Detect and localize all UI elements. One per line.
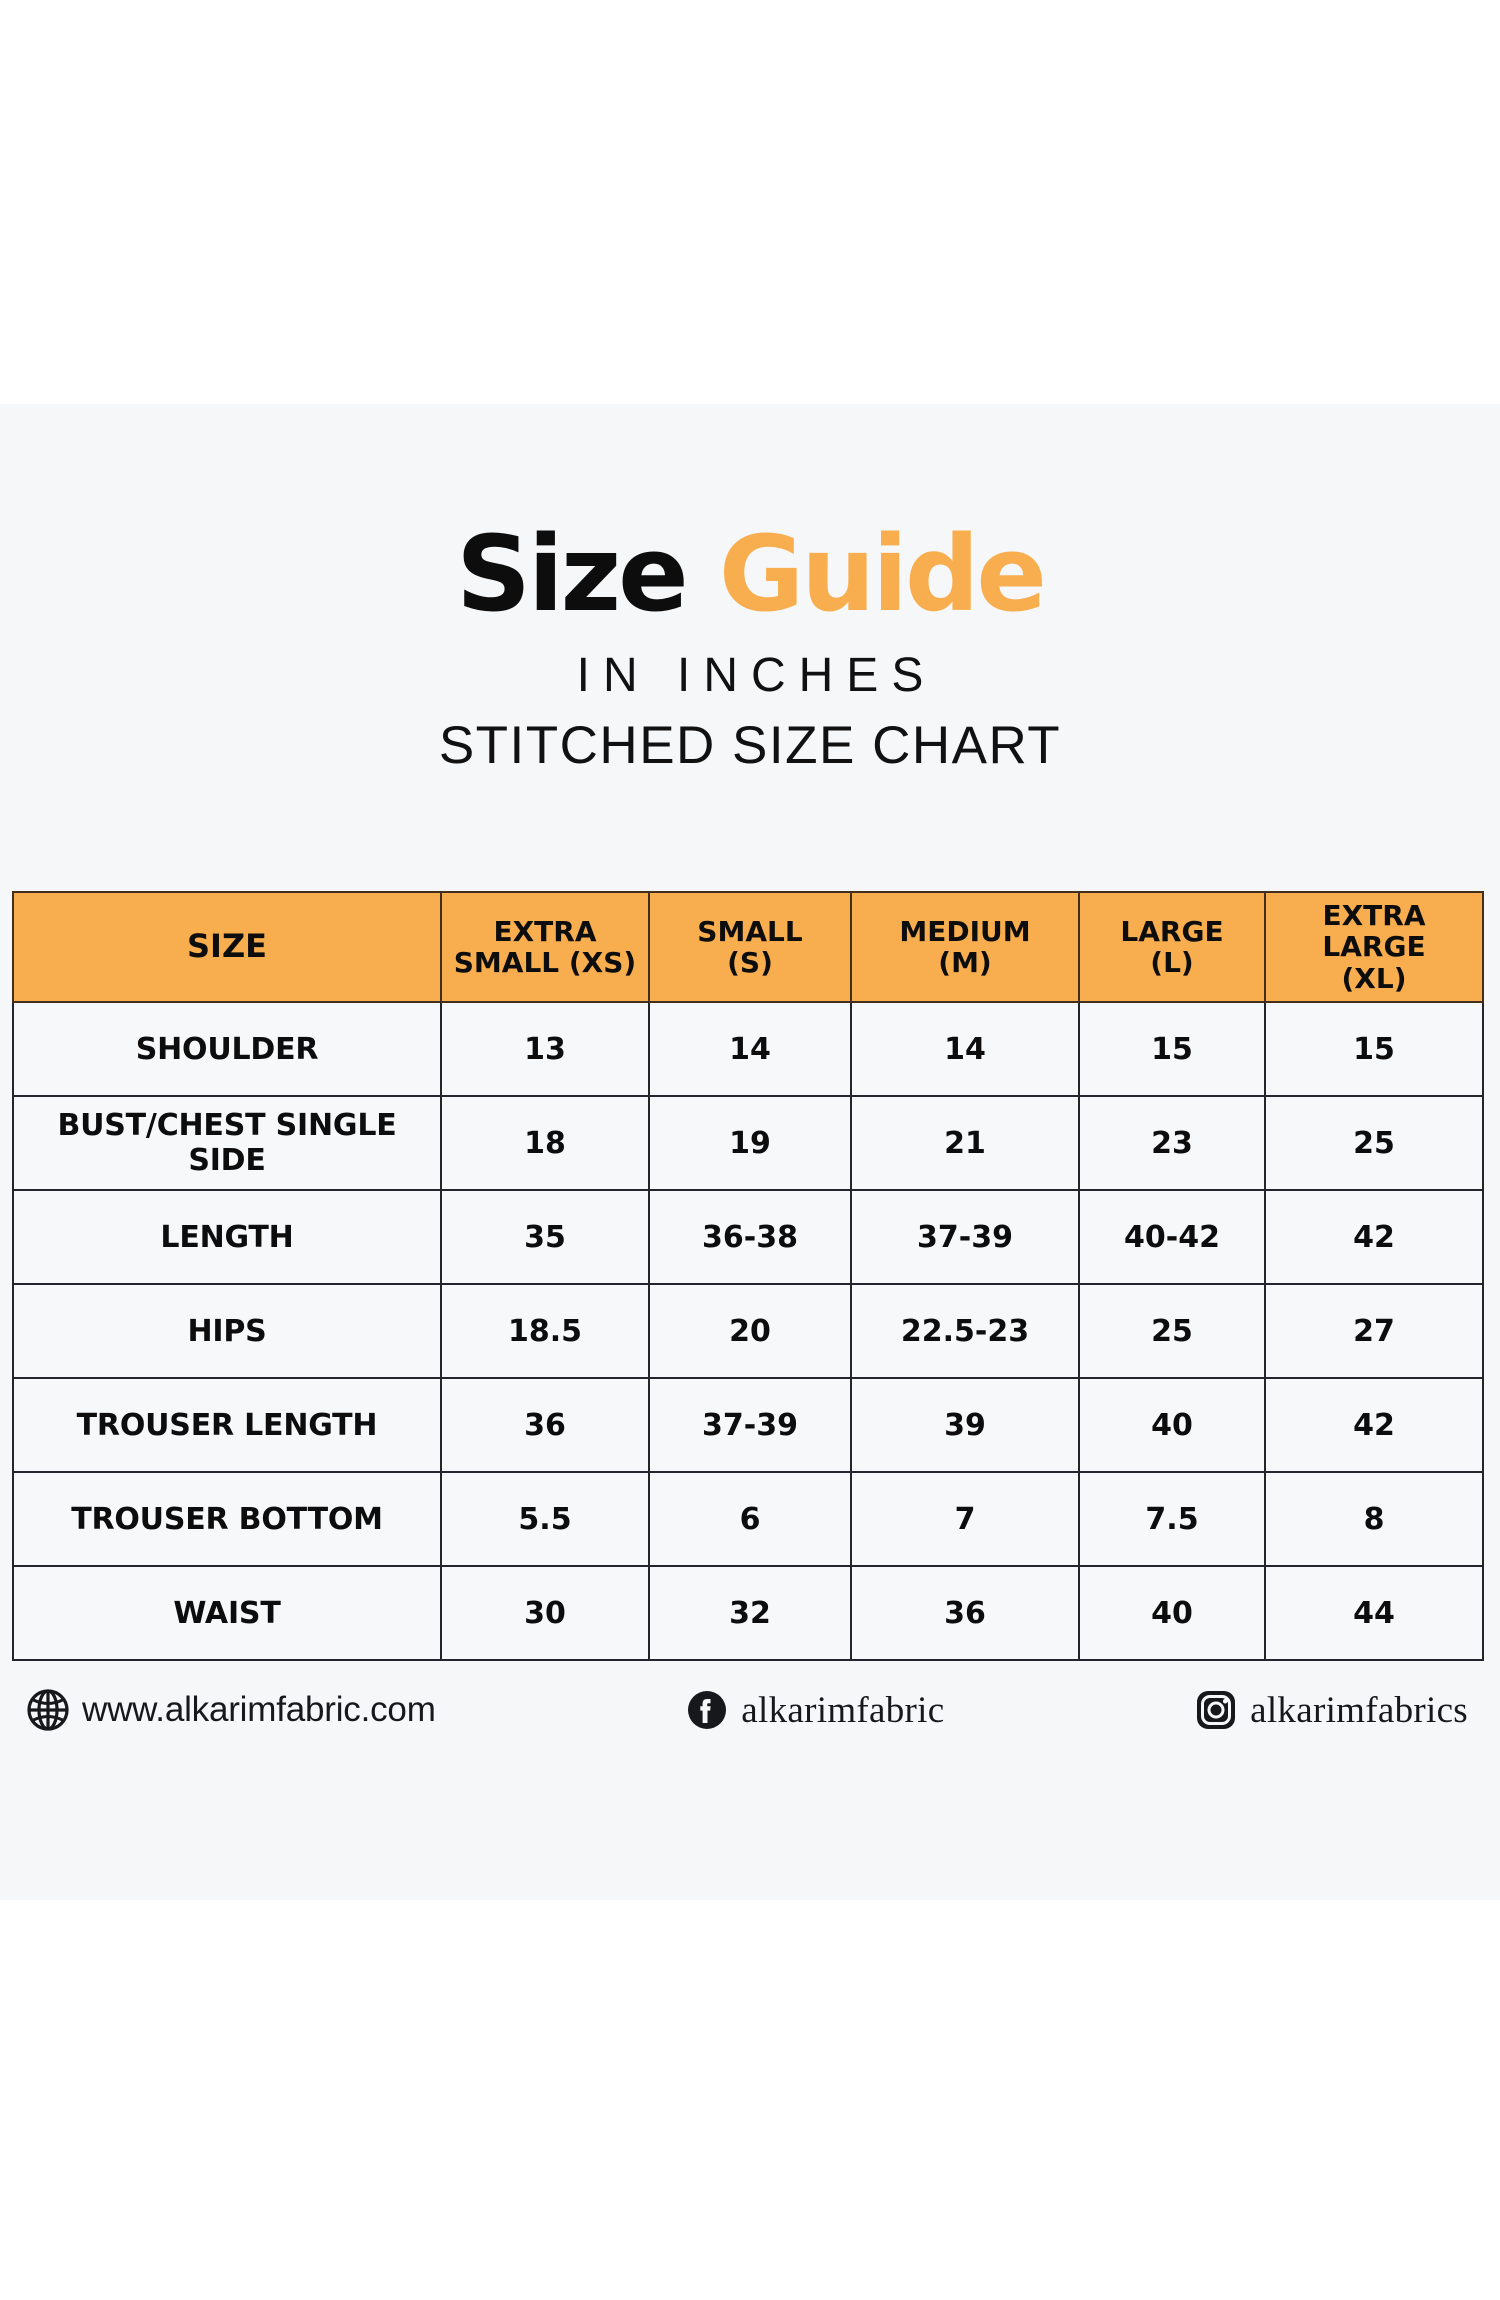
- column-header-size-line1: SIZE: [187, 927, 267, 965]
- subtitle-units: IN INCHES: [0, 648, 1500, 703]
- cell-shoulder-m: 14: [851, 1002, 1079, 1096]
- cell-shoulder-xl: 15: [1265, 1002, 1483, 1096]
- column-header-l: LARGE (L): [1079, 892, 1265, 1002]
- cell-trouser-bottom-l: 7.5: [1079, 1472, 1265, 1566]
- page-title-accent: Guide: [719, 513, 1044, 635]
- subtitle-chart-type: STITCHED SIZE CHART: [0, 715, 1500, 776]
- cell-waist-m: 36: [851, 1566, 1079, 1660]
- cell-hips-xl: 27: [1265, 1284, 1483, 1378]
- column-header-l-line2: (L): [1150, 946, 1193, 979]
- cell-length-m: 37-39: [851, 1190, 1079, 1284]
- facebook-icon: [685, 1688, 729, 1732]
- table-row: BUST/CHEST SINGLE SIDE 18 19 21 23 25: [13, 1096, 1483, 1190]
- cell-length-xs: 35: [441, 1190, 649, 1284]
- cell-bust-l: 23: [1079, 1096, 1265, 1190]
- column-header-xs-line2: SMALL (XS): [454, 946, 636, 979]
- cell-bust-xl: 25: [1265, 1096, 1483, 1190]
- page-title-space: [686, 513, 719, 635]
- cell-trouser-length-m: 39: [851, 1378, 1079, 1472]
- column-header-size: SIZE: [13, 892, 441, 1002]
- table-row: LENGTH 35 36-38 37-39 40-42 42: [13, 1190, 1483, 1284]
- column-header-xs: EXTRA SMALL (XS): [441, 892, 649, 1002]
- cell-trouser-length-l: 40: [1079, 1378, 1265, 1472]
- table-row: SHOULDER 13 14 14 15 15: [13, 1002, 1483, 1096]
- footer-website[interactable]: www.alkarimfabric.com: [26, 1688, 436, 1732]
- table-row: WAIST 30 32 36 40 44: [13, 1566, 1483, 1660]
- cell-waist-xl: 44: [1265, 1566, 1483, 1660]
- cell-trouser-length-s: 37-39: [649, 1378, 851, 1472]
- column-header-xl-line2: (XL): [1341, 962, 1406, 995]
- cell-trouser-bottom-s: 6: [649, 1472, 851, 1566]
- size-guide-panel: Size Guide IN INCHES STITCHED SIZE CHART…: [0, 404, 1500, 1900]
- instagram-icon: [1194, 1688, 1238, 1732]
- table-row: TROUSER LENGTH 36 37-39 39 40 42: [13, 1378, 1483, 1472]
- cell-length-s: 36-38: [649, 1190, 851, 1284]
- cell-hips-s: 20: [649, 1284, 851, 1378]
- page-title: Size Guide: [0, 522, 1500, 626]
- table-row: TROUSER BOTTOM 5.5 6 7 7.5 8: [13, 1472, 1483, 1566]
- cell-trouser-bottom-xl: 8: [1265, 1472, 1483, 1566]
- cell-length-xl: 42: [1265, 1190, 1483, 1284]
- cell-bust-s: 19: [649, 1096, 851, 1190]
- table-body: SHOULDER 13 14 14 15 15 BUST/CHEST SINGL…: [13, 1002, 1483, 1660]
- column-header-s: SMALL (S): [649, 892, 851, 1002]
- footer-facebook[interactable]: alkarimfabric: [685, 1688, 944, 1732]
- column-header-m: MEDIUM (M): [851, 892, 1079, 1002]
- table-header-row: SIZE EXTRA SMALL (XS) SMALL (S) MEDIUM (…: [13, 892, 1483, 1002]
- cell-trouser-bottom-xs: 5.5: [441, 1472, 649, 1566]
- cell-shoulder-l: 15: [1079, 1002, 1265, 1096]
- globe-icon: [26, 1688, 70, 1732]
- cell-shoulder-xs: 13: [441, 1002, 649, 1096]
- footer-instagram-label: alkarimfabrics: [1250, 1689, 1468, 1732]
- cell-shoulder-s: 14: [649, 1002, 851, 1096]
- cell-hips-l: 25: [1079, 1284, 1265, 1378]
- row-label-bust-chest: BUST/CHEST SINGLE SIDE: [13, 1096, 441, 1190]
- cell-waist-s: 32: [649, 1566, 851, 1660]
- cell-hips-m: 22.5-23: [851, 1284, 1079, 1378]
- cell-hips-xs: 18.5: [441, 1284, 649, 1378]
- cell-bust-xs: 18: [441, 1096, 649, 1190]
- social-footer: www.alkarimfabric.com alkarimfabric alka…: [12, 1650, 1482, 1770]
- cell-trouser-length-xs: 36: [441, 1378, 649, 1472]
- column-header-l-line1: LARGE: [1120, 915, 1223, 948]
- title-block: Size Guide IN INCHES STITCHED SIZE CHART: [0, 404, 1500, 776]
- cell-trouser-length-xl: 42: [1265, 1378, 1483, 1472]
- cell-waist-xs: 30: [441, 1566, 649, 1660]
- row-label-trouser-bottom: TROUSER BOTTOM: [13, 1472, 441, 1566]
- column-header-s-line1: SMALL: [697, 915, 802, 948]
- column-header-m-line1: MEDIUM: [899, 915, 1030, 948]
- table-head: SIZE EXTRA SMALL (XS) SMALL (S) MEDIUM (…: [13, 892, 1483, 1002]
- column-header-xl: EXTRA LARGE (XL): [1265, 892, 1483, 1002]
- cell-trouser-bottom-m: 7: [851, 1472, 1079, 1566]
- column-header-m-line2: (M): [938, 946, 991, 979]
- footer-facebook-label: alkarimfabric: [741, 1689, 944, 1732]
- column-header-xs-line1: EXTRA: [493, 915, 596, 948]
- page-title-dark: Size: [456, 513, 686, 635]
- footer-website-label: www.alkarimfabric.com: [82, 1690, 436, 1730]
- table-row: HIPS 18.5 20 22.5-23 25 27: [13, 1284, 1483, 1378]
- row-label-trouser-length: TROUSER LENGTH: [13, 1378, 441, 1472]
- cell-bust-m: 21: [851, 1096, 1079, 1190]
- column-header-xl-line1: EXTRA LARGE: [1322, 899, 1425, 963]
- row-label-hips: HIPS: [13, 1284, 441, 1378]
- row-label-length: LENGTH: [13, 1190, 441, 1284]
- row-label-shoulder: SHOULDER: [13, 1002, 441, 1096]
- row-label-waist: WAIST: [13, 1566, 441, 1660]
- footer-instagram[interactable]: alkarimfabrics: [1194, 1688, 1468, 1732]
- cell-length-l: 40-42: [1079, 1190, 1265, 1284]
- column-header-s-line2: (S): [727, 946, 773, 979]
- size-chart-table-wrapper: SIZE EXTRA SMALL (XS) SMALL (S) MEDIUM (…: [12, 891, 1482, 1661]
- size-chart-table: SIZE EXTRA SMALL (XS) SMALL (S) MEDIUM (…: [12, 891, 1484, 1661]
- cell-waist-l: 40: [1079, 1566, 1265, 1660]
